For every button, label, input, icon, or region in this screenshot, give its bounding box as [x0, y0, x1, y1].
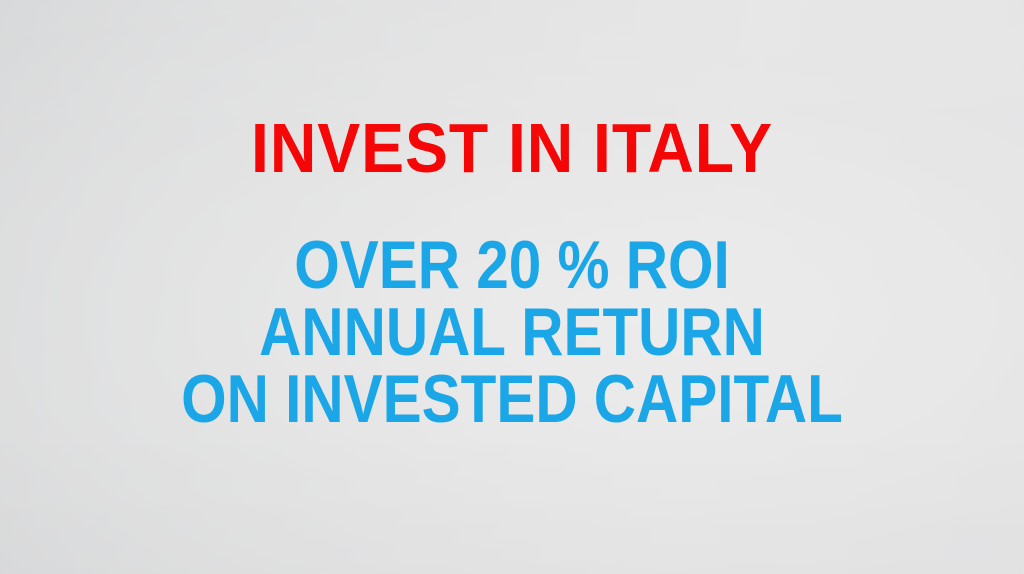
headline-invest-in-italy: INVEST IN ITALY: [41, 112, 983, 184]
subheadline-line-invested-capital: ON INVESTED CAPITAL: [72, 366, 953, 433]
promo-banner: INVEST IN ITALY OVER 20 % ROI ANNUAL RET…: [0, 0, 1024, 574]
subheadline-line-annual-return: ANNUAL RETURN: [72, 299, 953, 366]
subheadline-line-roi: OVER 20 % ROI: [72, 232, 953, 299]
subheadline-block: OVER 20 % ROI ANNUAL RETURN ON INVESTED …: [0, 232, 1024, 433]
